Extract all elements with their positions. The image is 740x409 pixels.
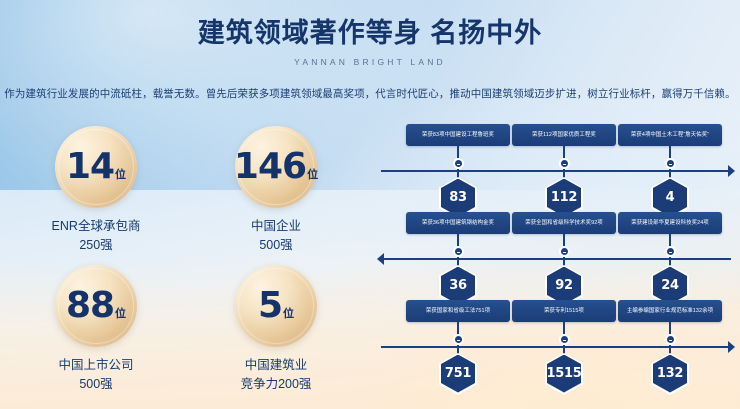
gold-coin-badge: 88 位: [55, 265, 137, 347]
timeline-row: 荣获国家和省级工法751项 751 荣获专利1515项 1515 主编参编国家行…: [378, 300, 734, 388]
hex-badge-border: 132: [651, 353, 689, 395]
arrow-left-icon: [377, 253, 384, 265]
node-ring-icon: [453, 246, 464, 257]
node-ring-icon: [665, 158, 676, 169]
stat-caption-line-1: 中国上市公司: [58, 356, 133, 375]
award-count-badge: 132: [653, 355, 687, 393]
timeline-node[interactable]: 荣获4项中国土木工程“詹天佑奖” 4: [618, 124, 722, 219]
arrow-right-icon: [728, 165, 735, 177]
stat-unit: 位: [307, 168, 318, 182]
gold-coin-badge: 14 位: [55, 126, 137, 208]
node-ring-icon: [665, 246, 676, 257]
stat-number: 88: [66, 289, 114, 323]
coin-value: 88 位: [66, 289, 126, 323]
award-label: 荣获国家和省级工法751项: [406, 300, 510, 322]
awards-timeline: 荣获83项中国建设工程鲁班奖 83 荣获112项国家优质工程奖 112 荣获4项…: [378, 124, 734, 406]
timeline-node[interactable]: 荣获专利1515项 1515: [512, 300, 616, 395]
node-stem-lower: [563, 345, 565, 354]
award-label: 荣获专利1515项: [512, 300, 616, 322]
timeline-node[interactable]: 荣获36项中国建筑钢结构金奖 36: [406, 212, 510, 307]
stat-caption-line-1: 中国企业: [251, 217, 301, 236]
timeline-row: 荣获36项中国建筑钢结构金奖 36 荣获全国和省级科学技术奖92项 92 荣获建…: [378, 212, 734, 300]
timeline-node[interactable]: 荣获全国和省级科学技术奖92项 92: [512, 212, 616, 307]
coin-value: 14 位: [66, 150, 126, 184]
hex-badge-border: 751: [439, 353, 477, 395]
node-ring-icon: [453, 334, 464, 345]
stat-unit: 位: [115, 307, 126, 321]
stat-caption: 中国企业 500强: [251, 217, 301, 255]
award-count-badge: 24: [653, 267, 687, 305]
node-stem-lower: [563, 169, 565, 178]
award-label: 荣获建设部华夏建设科技奖24项: [618, 212, 722, 234]
award-count-badge: 92: [547, 267, 581, 305]
award-label: 荣获36项中国建筑钢结构金奖: [406, 212, 510, 234]
infographic-stage: 建筑领域著作等身 名扬中外 YANNAN BRIGHT LAND 作为建筑行业发…: [0, 0, 740, 409]
node-ring-icon: [559, 246, 570, 257]
stat-caption-line-1: ENR全球承包商: [52, 217, 141, 236]
stat-card: 88 位 中国上市公司 500强: [6, 265, 186, 404]
award-count-badge: 1515: [547, 355, 581, 393]
node-stem-lower: [669, 257, 671, 266]
stat-caption-line-1: 中国建筑业: [241, 356, 312, 375]
stat-unit: 位: [283, 307, 294, 321]
node-stem-lower: [669, 345, 671, 354]
award-count-badge: 83: [441, 179, 475, 217]
award-label: 主编参编国家行业规范标准132余项: [618, 300, 722, 322]
timeline-node[interactable]: 荣获83项中国建设工程鲁班奖 83: [406, 124, 510, 219]
award-label: 荣获83项中国建设工程鲁班奖: [406, 124, 510, 146]
node-stem-lower: [563, 257, 565, 266]
node-ring-icon: [453, 158, 464, 169]
stats-grid: 14 位 ENR全球承包商 250强 146 位 中国企业 500强: [6, 126, 366, 404]
stat-caption: 中国上市公司 500强: [58, 356, 133, 394]
stat-number: 5: [258, 289, 282, 323]
arrow-right-icon: [728, 341, 735, 353]
timeline-node[interactable]: 荣获建设部华夏建设科技奖24项 24: [618, 212, 722, 307]
stat-card: 5 位 中国建筑业 竞争力200强: [186, 265, 366, 404]
award-count-badge: 4: [653, 179, 687, 217]
stat-number: 14: [66, 150, 114, 184]
coin-value: 5 位: [258, 289, 294, 323]
stat-number: 146: [234, 150, 306, 184]
award-label: 荣获112项国家优质工程奖: [512, 124, 616, 146]
timeline-node[interactable]: 荣获112项国家优质工程奖 112: [512, 124, 616, 219]
stat-caption-line-2: 竞争力200强: [241, 375, 312, 394]
gold-coin-badge: 146 位: [235, 126, 317, 208]
node-ring-icon: [559, 158, 570, 169]
stat-caption-line-2: 500强: [58, 375, 133, 394]
timeline-node[interactable]: 主编参编国家行业规范标准132余项 132: [618, 300, 722, 395]
node-stem-lower: [457, 169, 459, 178]
intro-paragraph: 作为建筑行业发展的中流砥柱，载誉无数。曾先后荣获多项建筑领域最高奖项，代言时代匠…: [0, 86, 740, 102]
award-label: 荣获4项中国土木工程“詹天佑奖”: [618, 124, 722, 146]
page-subtitle: YANNAN BRIGHT LAND: [0, 57, 740, 67]
award-count-badge: 112: [547, 179, 581, 217]
node-ring-icon: [559, 334, 570, 345]
node-stem-lower: [457, 345, 459, 354]
stat-caption: ENR全球承包商 250强: [52, 217, 141, 255]
node-stem-lower: [457, 257, 459, 266]
stat-caption: 中国建筑业 竞争力200强: [241, 356, 312, 394]
page-title: 建筑领域著作等身 名扬中外: [0, 16, 740, 50]
award-label: 荣获全国和省级科学技术奖92项: [512, 212, 616, 234]
node-stem-lower: [669, 169, 671, 178]
timeline-row: 荣获83项中国建设工程鲁班奖 83 荣获112项国家优质工程奖 112 荣获4项…: [378, 124, 734, 212]
header: 建筑领域著作等身 名扬中外 YANNAN BRIGHT LAND: [0, 0, 740, 67]
stat-unit: 位: [115, 168, 126, 182]
award-count-badge: 751: [441, 355, 475, 393]
coin-value: 146 位: [234, 150, 318, 184]
timeline-node[interactable]: 荣获国家和省级工法751项 751: [406, 300, 510, 395]
stat-card: 146 位 中国企业 500强: [186, 126, 366, 265]
gold-coin-badge: 5 位: [235, 265, 317, 347]
stat-caption-line-2: 250强: [52, 236, 141, 255]
hex-badge-border: 1515: [545, 353, 583, 395]
stat-card: 14 位 ENR全球承包商 250强: [6, 126, 186, 265]
node-ring-icon: [665, 334, 676, 345]
stat-caption-line-2: 500强: [251, 236, 301, 255]
award-count-badge: 36: [441, 267, 475, 305]
